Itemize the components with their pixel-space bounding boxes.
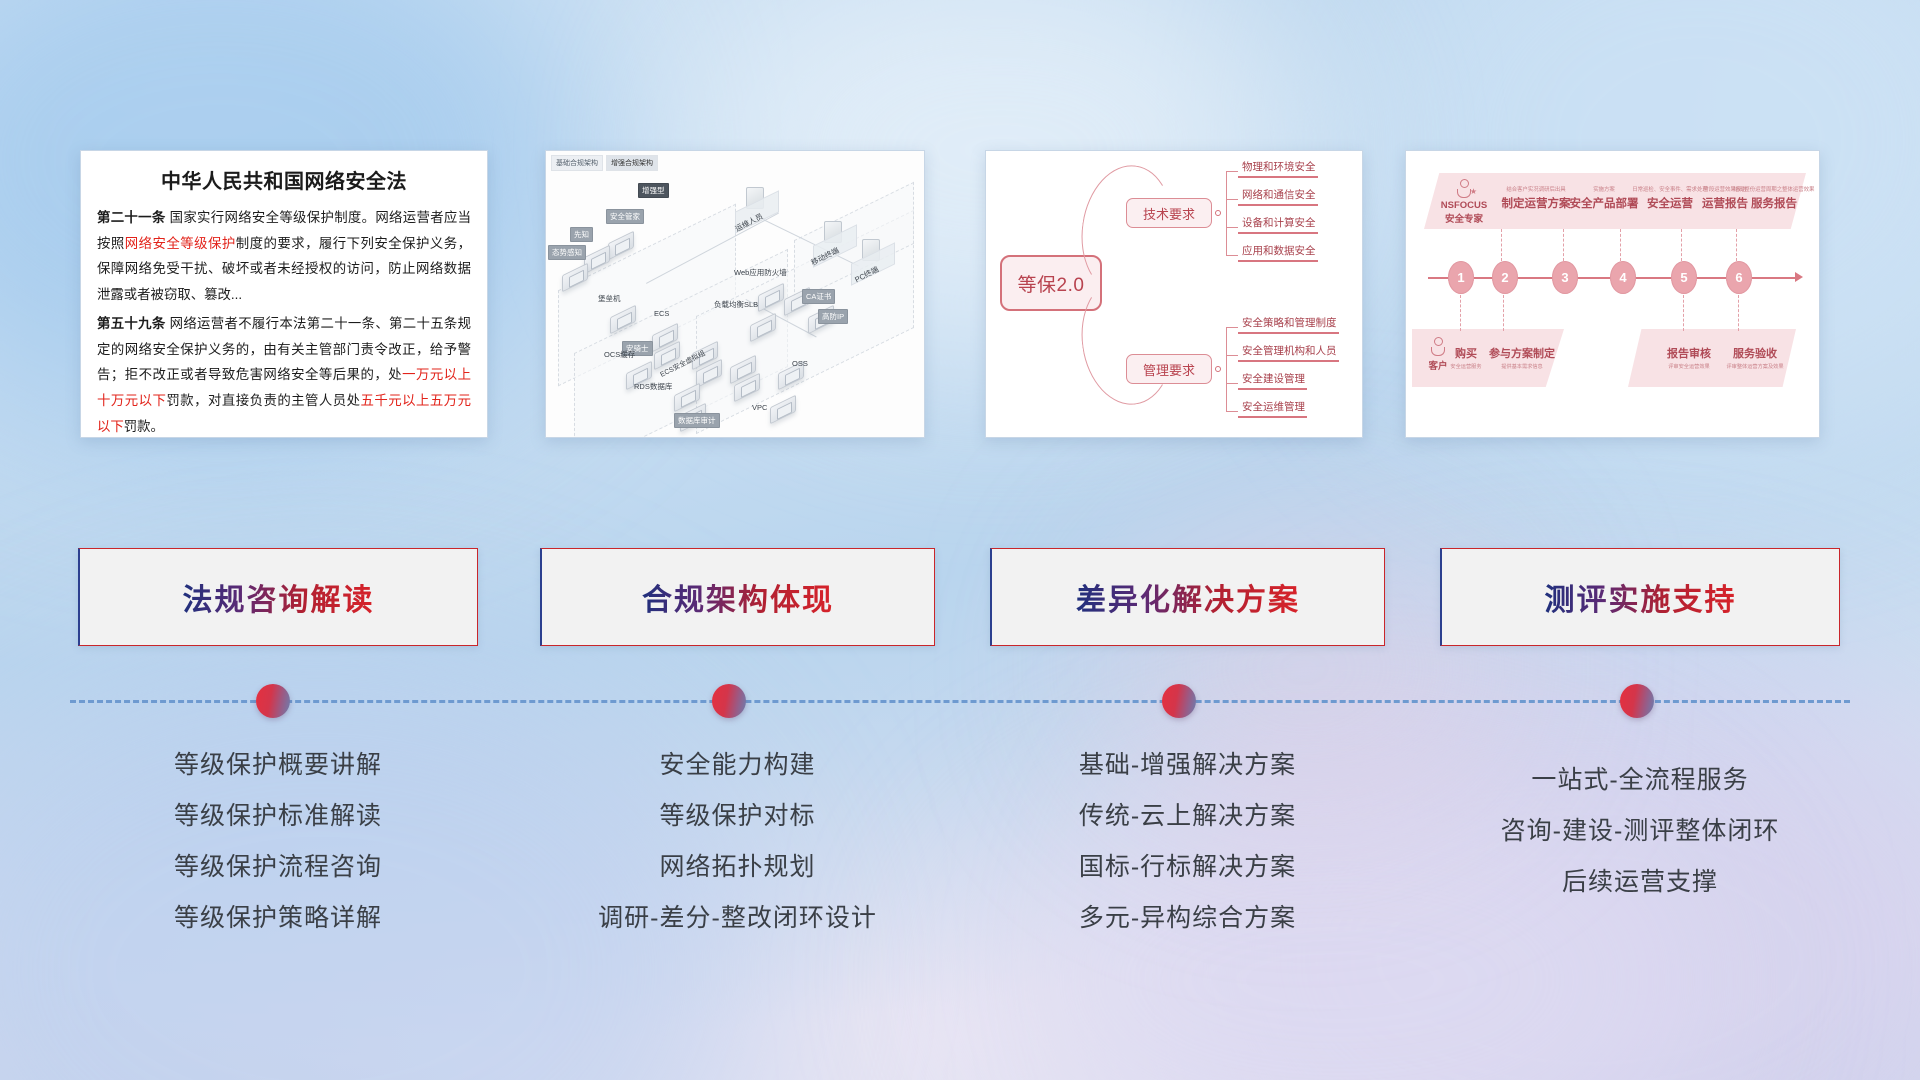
list-item: 咨询-建设-测评整体闭环: [1440, 806, 1840, 857]
node-label-enhanced: 增强型: [638, 183, 669, 198]
detail-list-3: 基础-增强解决方案 传统-云上解决方案 国标-行标解决方案 多元-异构综合方案: [990, 740, 1385, 944]
law-article-59: 第五十九条 网络运营者不履行本法第二十一条、第二十五条规定的网络安全保护义务的，…: [97, 311, 471, 438]
node-bastion-host: [610, 311, 636, 328]
node-label-anti-ddos: 高防IP: [818, 309, 848, 324]
node-waf: [758, 289, 784, 306]
mindmap-branch-management: 管理要求: [1126, 354, 1212, 384]
node-ecs-group-d: [734, 379, 760, 396]
node-ecs-group-b: [696, 365, 722, 382]
mindmap-leaf-device: 设备和计算安全: [1238, 215, 1318, 234]
node-label-ca-cert: CA证书: [802, 289, 835, 304]
node-label-rds: RDS数据库: [634, 381, 672, 392]
list-item: 等级保护流程咨询: [78, 842, 478, 893]
node-security-butler: [608, 237, 634, 254]
mindmap-leaf-org: 安全管理机构和人员: [1238, 343, 1339, 362]
detail-list-row: 等级保护概要讲解 等级保护标准解读 等级保护流程咨询 等级保护策略详解 安全能力…: [0, 740, 1920, 970]
roadmap-bottom-cap-4: 服务验收: [1712, 345, 1798, 361]
timeline-dot-3: [1162, 684, 1196, 718]
headline-label-3: 差异化解决方案: [1076, 575, 1300, 619]
list-item: 等级保护概要讲解: [78, 740, 478, 791]
roadmap-dash-bottom-5: [1683, 295, 1684, 331]
list-item: 安全能力构建: [540, 740, 935, 791]
roadmap-provider-persona: ★ NSFOCUS 安全专家: [1436, 179, 1492, 225]
mindmap-dot-technical: [1215, 210, 1221, 216]
node-label-slb: 负载均衡SLB: [714, 299, 758, 310]
slide-stage: 中华人民共和国网络安全法 第二十一条 国家实行网络安全等级保护制度。网络运营者应…: [0, 0, 1920, 1080]
node-label-bastion-host: 堡垒机: [598, 293, 621, 304]
law-article-number: 第二十一条: [97, 210, 166, 225]
mindmap-leaf-policy: 安全策略和管理制度: [1238, 315, 1339, 334]
node-label-db-audit: 数据库审计: [674, 413, 720, 428]
list-item: 网络拓扑规划: [540, 842, 935, 893]
law-document: 中华人民共和国网络安全法 第二十一条 国家实行网络安全等级保护制度。网络运营者应…: [81, 151, 487, 438]
headline-box-compliance-architecture[interactable]: 合规架构体现: [540, 548, 935, 646]
card-cybersecurity-law: 中华人民共和国网络安全法 第二十一条 国家实行网络安全等级保护制度。网络运营者应…: [80, 150, 488, 438]
node-label-waf: Web应用防火墙: [734, 267, 787, 278]
headline-box-assessment-support[interactable]: 测评实施支持: [1440, 548, 1840, 646]
roadmap-top-step-5: 给出整份运营周期之整体运营效果 服务报告: [1722, 185, 1820, 211]
node-ops-staff: [746, 187, 764, 209]
mindmap: 等保2.0 技术要求 物理和环境安全 网络和通信安全 设备和计算安全 应用和数据…: [986, 151, 1362, 437]
timeline-dashed-line: [70, 700, 1850, 703]
mindmap-leaf-network: 网络和通信安全: [1238, 187, 1318, 206]
list-item: 传统-云上解决方案: [990, 791, 1385, 842]
roadmap-dash-top-3: [1563, 229, 1564, 261]
person-head-icon: [1460, 179, 1469, 188]
roadmap-dash-top-4: [1620, 229, 1621, 261]
node-label-ecs: ECS: [654, 309, 669, 318]
mindmap-leaf-operations: 安全运维管理: [1238, 399, 1307, 418]
roadmap-provider-name: NSFOCUS: [1436, 200, 1492, 211]
roadmap-node-3: 3: [1552, 261, 1578, 294]
list-item: 多元-异构综合方案: [990, 893, 1385, 944]
mindmap-leaf-physical: 物理和环境安全: [1238, 159, 1318, 178]
node-rds: [674, 389, 700, 406]
law-article-21: 第二十一条 国家实行网络安全等级保护制度。网络运营者应当按照网络安全等级保护制度…: [97, 205, 471, 308]
roadmap-dash-top-2: [1501, 229, 1502, 261]
roadmap-node-2: 2: [1492, 261, 1518, 294]
mindmap-tick-m4: [1226, 411, 1238, 412]
node-mobile-terminal: [824, 221, 842, 243]
law-article-number: 第五十九条: [97, 316, 166, 331]
detail-list-1: 等级保护概要讲解 等级保护标准解读 等级保护流程咨询 等级保护策略详解: [78, 740, 478, 944]
mindmap-dot-management: [1215, 366, 1221, 372]
mindmap-leaf-build: 安全建设管理: [1238, 371, 1307, 390]
illustration-card-row: 中华人民共和国网络安全法 第二十一条 国家实行网络安全等级保护制度。网络运营者应…: [0, 150, 1920, 445]
list-item: 等级保护策略详解: [78, 893, 478, 944]
roadmap-dash-bottom-6: [1738, 295, 1739, 331]
mindmap-tick-m3: [1226, 383, 1238, 384]
mindmap-tick-t2: [1226, 199, 1238, 200]
node-label-xianzhi: 先知: [570, 227, 593, 242]
roadmap-dash-top-6: [1736, 229, 1737, 261]
node-vpc: [770, 401, 796, 418]
mindmap-tick-t4: [1226, 255, 1238, 256]
card-dengbao-mindmap: 等保2.0 技术要求 物理和环境安全 网络和通信安全 设备和计算安全 应用和数据…: [985, 150, 1363, 438]
headline-label-2: 合规架构体现: [642, 575, 834, 619]
roadmap-bottom-sub-2: 提供基本需求信息: [1480, 363, 1564, 370]
roadmap-bottom-cap-2: 参与方案制定: [1480, 345, 1564, 361]
mindmap-tick-m1: [1226, 327, 1238, 328]
list-item: 一站式-全流程服务: [1440, 755, 1840, 806]
node-oss: [778, 367, 804, 384]
detail-list-4: 一站式-全流程服务 咨询-建设-测评整体闭环 后续运营支撑: [1440, 740, 1840, 908]
list-item: 国标-行标解决方案: [990, 842, 1385, 893]
node-label-vpc: VPC: [752, 403, 767, 412]
headline-label-4: 测评实施支持: [1545, 575, 1737, 619]
list-item: 基础-增强解决方案: [990, 740, 1385, 791]
timeline-dot-4: [1620, 684, 1654, 718]
node-label-oss: OSS: [792, 359, 808, 368]
roadmap: ★ NSFOCUS 安全专家 结合客户实况调研后出具 制定运营方案 实施方案 安…: [1406, 151, 1819, 437]
roadmap-dash-bottom-1: [1460, 295, 1461, 331]
timeline-dot-2: [712, 684, 746, 718]
law-highlight-text: 网络安全等级保护: [125, 236, 236, 251]
roadmap-node-5: 5: [1671, 261, 1697, 294]
card-service-roadmap: ★ NSFOCUS 安全专家 结合客户实况调研后出具 制定运营方案 实施方案 安…: [1405, 150, 1820, 438]
roadmap-bottom-step-2: 参与方案制定 提供基本需求信息: [1480, 345, 1564, 370]
roadmap-top-sub-5: 给出整份运营周期之整体运营效果: [1722, 185, 1820, 193]
roadmap-bottom-sub-4: 评审整体运营方案及效果: [1712, 363, 1798, 370]
law-body-text: 罚款，对直接负责的主管人员处: [166, 393, 360, 408]
list-item: 后续运营支撑: [1440, 857, 1840, 908]
card-compliance-architecture: 基础合规架构 增强合规架构 安全管家: [545, 150, 925, 438]
law-title: 中华人民共和国网络安全法: [97, 165, 471, 194]
timeline-dot-1: [256, 684, 290, 718]
headline-row: 法规咨询解读 合规架构体现 差异化解决方案 测评实施支持: [0, 548, 1920, 648]
roadmap-dash-top-5: [1681, 229, 1682, 261]
node-slb: [750, 319, 776, 336]
list-item: 等级保护对标: [540, 791, 935, 842]
node-label-security-butler: 安全管家: [606, 209, 644, 224]
law-body-text: 罚款。: [124, 419, 164, 434]
roadmap-bottom-step-4: 服务验收 评审整体运营方案及效果: [1712, 345, 1798, 370]
list-item: 等级保护标准解读: [78, 791, 478, 842]
roadmap-arrow-icon: [1795, 272, 1803, 282]
mindmap-spine-technical: [1226, 171, 1227, 255]
headline-box-regulation-consulting[interactable]: 法规咨询解读: [78, 548, 478, 646]
isometric-canvas: 安全管家 先知 态势感知 增强型 堡垒机 ECS 安骑士: [546, 151, 924, 437]
roadmap-node-4: 4: [1610, 261, 1636, 294]
node-pc-terminal: [862, 239, 880, 261]
roadmap-dash-bottom-2: [1503, 295, 1504, 331]
roadmap-top-cap-5: 服务报告: [1722, 195, 1820, 211]
headline-label-1: 法规咨询解读: [183, 575, 375, 619]
mindmap-leaf-application: 应用和数据安全: [1238, 243, 1318, 262]
architecture-diagram: 基础合规架构 增强合规架构 安全管家: [546, 151, 924, 437]
roadmap-node-1: 1: [1448, 261, 1474, 294]
star-icon: ★: [1470, 187, 1477, 196]
list-item: 调研-差分-整改闭环设计: [540, 893, 935, 944]
detail-list-2: 安全能力构建 等级保护对标 网络拓扑规划 调研-差分-整改闭环设计: [540, 740, 935, 944]
node-situational-awareness: [562, 269, 588, 286]
headline-box-differentiated-solutions[interactable]: 差异化解决方案: [990, 548, 1385, 646]
mindmap-tick-m2: [1226, 355, 1238, 356]
node-label-ocs-cache: OCS缓存: [604, 349, 635, 360]
mindmap-branch-technical: 技术要求: [1126, 198, 1212, 228]
roadmap-node-6: 6: [1726, 261, 1752, 294]
mindmap-spine-management: [1226, 327, 1227, 411]
mindmap-tick-t3: [1226, 227, 1238, 228]
node-label-situational-awareness: 态势感知: [548, 245, 586, 260]
mindmap-tick-t1: [1226, 171, 1238, 172]
roadmap-provider-role: 安全专家: [1436, 211, 1492, 225]
timeline: [0, 670, 1920, 730]
